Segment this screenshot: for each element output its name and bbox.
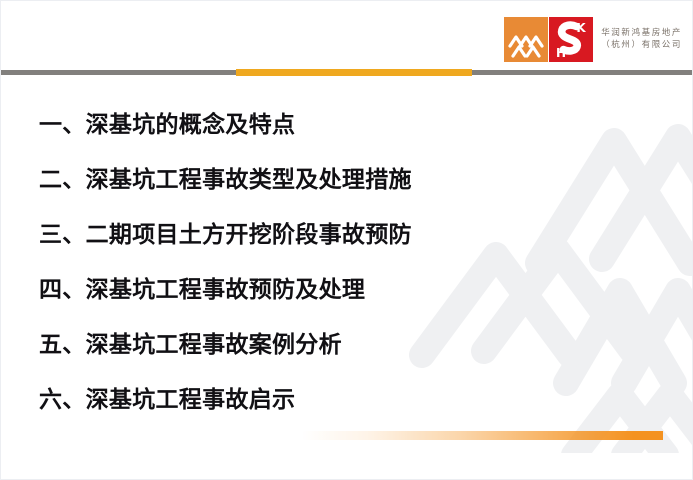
logo-skh-monogram-icon: K H [549, 17, 593, 62]
company-logo: K H 华润新鸿基房地产 （杭州）有限公司 [504, 17, 682, 62]
toc-item-6[interactable]: 六、深基坑工程事故启示 [39, 372, 693, 427]
toc-item-3[interactable]: 三、二期项目土方开挖阶段事故预防 [39, 207, 693, 262]
logo-mountain-chevron-icon [504, 17, 548, 62]
company-name-line1: 华润新鸿基房地产 [601, 28, 682, 39]
toc-item-4[interactable]: 四、深基坑工程事故预防及处理 [39, 262, 693, 317]
table-of-contents: 一、深基坑的概念及特点 二、深基坑工程事故类型及处理措施 三、二期项目土方开挖阶… [1, 75, 693, 427]
svg-text:H: H [556, 46, 566, 60]
toc-item-5[interactable]: 五、深基坑工程事故案例分析 [39, 317, 693, 372]
toc-item-1[interactable]: 一、深基坑的概念及特点 [39, 97, 693, 152]
header-divider-accent [236, 69, 472, 76]
logo-mark: K H [504, 17, 593, 62]
company-name-line2: （杭州）有限公司 [601, 40, 682, 51]
company-name: 华润新鸿基房地产 （杭州）有限公司 [601, 28, 682, 51]
bottom-accent-bar [301, 431, 663, 440]
slide-header: K H 华润新鸿基房地产 （杭州）有限公司 [1, 1, 693, 71]
toc-item-2[interactable]: 二、深基坑工程事故类型及处理措施 [39, 152, 693, 207]
svg-text:K: K [577, 21, 587, 35]
presentation-slide: K H 华润新鸿基房地产 （杭州）有限公司 一、深基坑的概念及特点 二、深基坑工… [0, 0, 693, 480]
